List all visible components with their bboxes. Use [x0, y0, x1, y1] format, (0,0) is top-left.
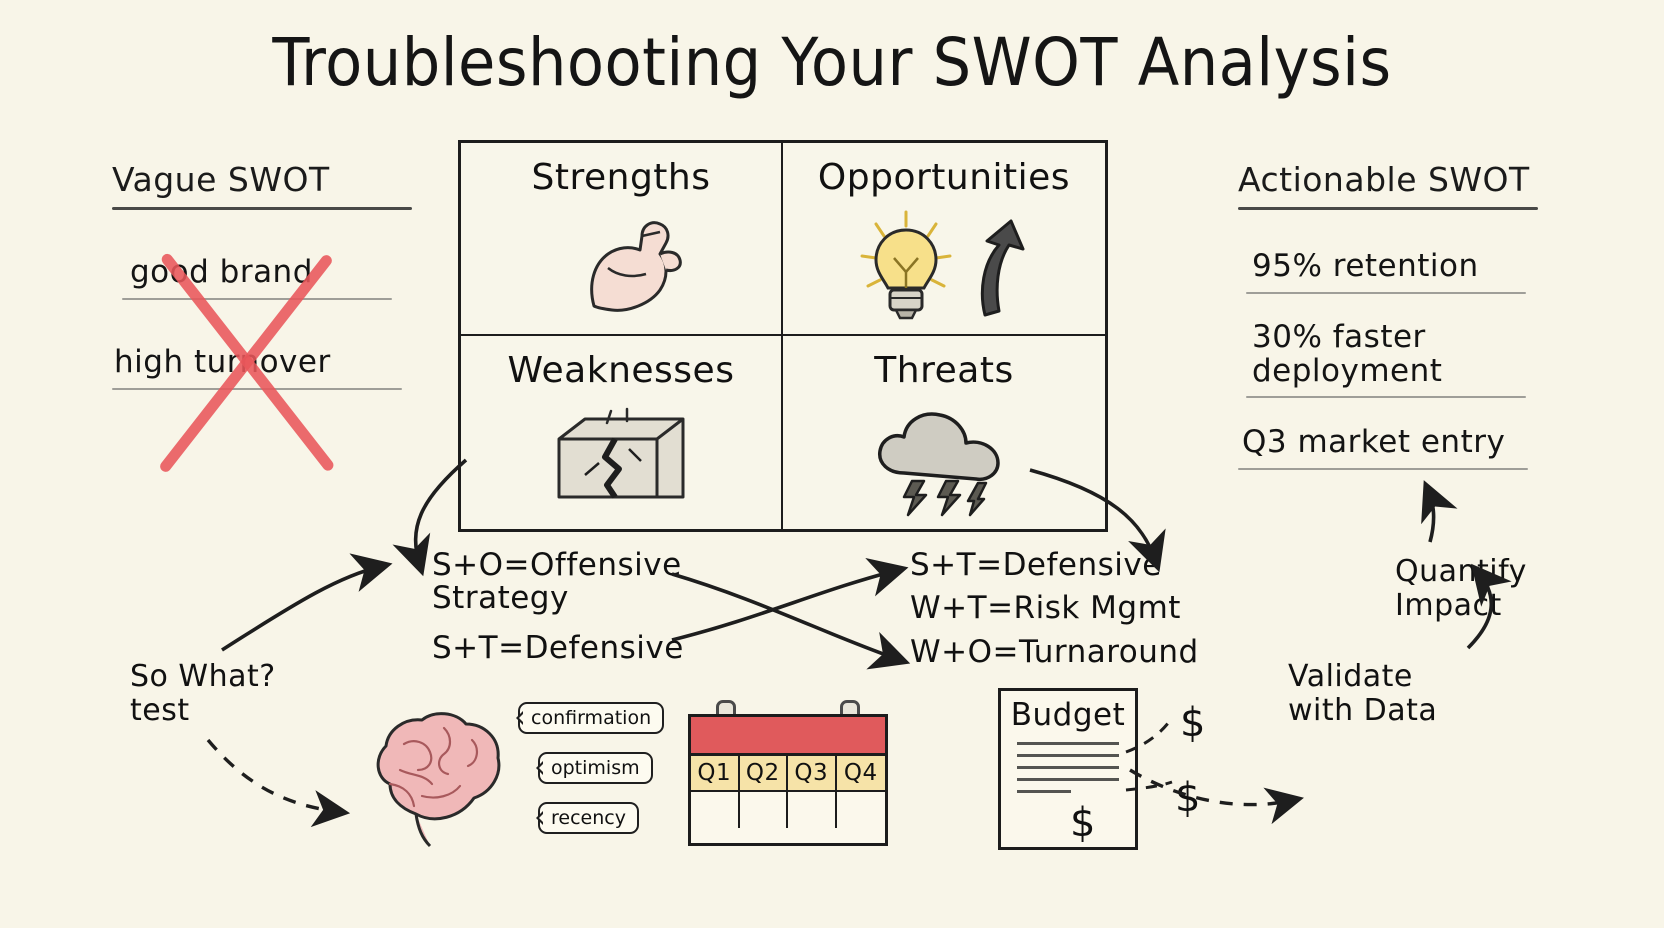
- dollar-sign-icon: $: [1070, 800, 1096, 846]
- quadrant-strengths: Strengths: [461, 143, 783, 336]
- calendar-empty-row: [691, 792, 885, 828]
- actionable-swot-heading: Actionable SWOT: [1238, 160, 1538, 199]
- strategy-left-1: Strategy: [432, 582, 684, 615]
- page-title: Troubleshooting Your SWOT Analysis: [67, 24, 1598, 101]
- storm-cloud-icon: [783, 391, 1105, 529]
- strategy-left-0: S+O=Offensive: [432, 549, 684, 582]
- quadrant-weaknesses: Weaknesses: [461, 336, 783, 529]
- doc-line: [1017, 778, 1119, 781]
- doc-line: [1017, 766, 1119, 769]
- so-what-test-label: So What? test: [130, 660, 276, 727]
- brain-icon: confirmation optimism recency: [360, 700, 535, 850]
- validate-line-1: with Data: [1288, 694, 1437, 728]
- opportunity-art: [783, 198, 1105, 334]
- calendar-empty-cell: [837, 792, 886, 828]
- quantify-line-0: Quantify: [1395, 555, 1527, 589]
- bias-label-recency: recency: [538, 802, 639, 834]
- calendar-cell-q1: Q1: [691, 756, 740, 792]
- quadrant-label-weaknesses: Weaknesses: [508, 350, 735, 391]
- diagram-canvas: Troubleshooting Your SWOT Analysis Vague…: [0, 0, 1664, 928]
- quadrant-opportunities: Opportunities: [783, 143, 1105, 336]
- calendar-empty-cell: [788, 792, 837, 828]
- validate-line-0: Validate: [1288, 660, 1437, 694]
- calendar-cell-q3: Q3: [788, 756, 837, 792]
- quadrant-label-threats: Threats: [874, 350, 1013, 391]
- quadrant-label-opportunities: Opportunities: [818, 157, 1070, 198]
- dollar-sign-icon: $: [1180, 700, 1206, 746]
- strategy-right-2: W+O=Turnaround: [910, 636, 1199, 669]
- calendar-icon: Q1 Q2 Q3 Q4: [688, 700, 893, 848]
- calendar-quarter-row: Q1 Q2 Q3 Q4: [691, 756, 885, 792]
- heading-underline: [112, 207, 412, 210]
- quadrant-label-strengths: Strengths: [532, 157, 711, 198]
- actionable-item-1: 30% faster deployment: [1252, 320, 1502, 388]
- lightbulb-icon: [854, 206, 959, 326]
- arrow-offensive-to-turnaround: [672, 574, 900, 660]
- red-cross-icon: [110, 215, 340, 500]
- quantify-line-1: Impact: [1395, 589, 1527, 623]
- actionable-item-1-underline: [1246, 396, 1526, 398]
- arrow-quantify-to-actionable: [1428, 490, 1434, 542]
- swot-matrix: Strengths Opportunities: [458, 140, 1108, 532]
- strategy-right-1: W+T=Risk Mgmt: [910, 592, 1199, 625]
- vague-swot-heading: Vague SWOT: [112, 160, 412, 199]
- arrow-defensive-to-defensive: [672, 570, 898, 640]
- actionable-swot-column: Actionable SWOT 95% retention 30% faster…: [1238, 160, 1538, 470]
- quadrant-threats: Threats: [783, 336, 1105, 529]
- calendar-cell-q2: Q2: [740, 756, 789, 792]
- so-what-line-0: So What?: [130, 660, 276, 694]
- actionable-item-0-underline: [1246, 292, 1526, 294]
- flexed-bicep-icon: [461, 198, 781, 334]
- up-arrow-icon: [965, 211, 1035, 321]
- validate-with-data-label: Validate with Data: [1288, 660, 1437, 727]
- actionable-item-0: 95% retention: [1252, 248, 1538, 284]
- doc-line: [1017, 790, 1071, 793]
- bias-label-optimism: optimism: [538, 752, 653, 784]
- bias-label-confirmation: confirmation: [518, 702, 664, 734]
- actionable-item-2-underline: [1238, 468, 1528, 470]
- quantify-impact-label: Quantify Impact: [1395, 555, 1527, 622]
- arrow-so-what-to-strategy: [222, 566, 382, 650]
- strategy-right-0: S+T=Defensive: [910, 549, 1199, 582]
- strategy-list-right: S+T=Defensive W+T=Risk Mgmt W+O=Turnarou…: [910, 549, 1199, 669]
- doc-line: [1017, 742, 1119, 745]
- heading-underline: [1238, 207, 1538, 210]
- strategy-list-left: S+O=Offensive Strategy S+T=Defensive: [432, 549, 684, 665]
- calendar-header: [691, 717, 885, 756]
- dollar-sign-icon: $: [1175, 775, 1201, 821]
- arrow-budget-to-validate-dashed: [1130, 770, 1294, 805]
- calendar-empty-cell: [691, 792, 740, 828]
- so-what-line-1: test: [130, 694, 276, 728]
- calendar-cell-q4: Q4: [837, 756, 886, 792]
- arrow-so-what-to-brain-dashed: [208, 740, 340, 812]
- doc-line: [1017, 754, 1119, 757]
- document-icon: Budget: [998, 688, 1138, 850]
- budget-title: Budget: [1001, 697, 1135, 733]
- cracked-box-icon: [461, 391, 781, 529]
- actionable-item-2: Q3 market entry: [1242, 424, 1538, 460]
- calendar-body: Q1 Q2 Q3 Q4: [688, 714, 888, 846]
- calendar-empty-cell: [740, 792, 789, 828]
- strategy-left-2: S+T=Defensive: [432, 632, 684, 665]
- budget-document: Budget $: [998, 688, 1138, 850]
